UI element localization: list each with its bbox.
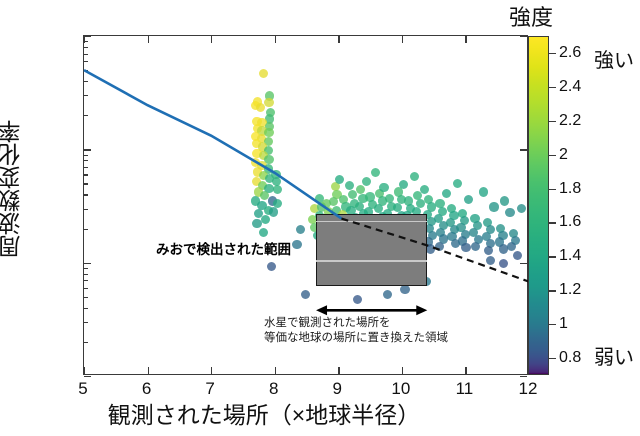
colorbar-high-label: 強い: [594, 44, 634, 73]
colorbar-tick-label: 1.6: [559, 213, 581, 231]
chart-figure: 56789101112 10−210−1100101 観測された場所（×地球半径…: [0, 0, 640, 436]
colorbar: [528, 36, 549, 375]
detection-band-label: みおで検出された範囲: [156, 238, 291, 258]
arrow-head-right: [416, 305, 427, 315]
y-tick: [84, 376, 91, 377]
colorbar-tick-label: 2: [559, 146, 568, 164]
y-tick: [520, 376, 527, 377]
colorbar-tick: [549, 155, 556, 156]
colorbar-title: 強度: [509, 0, 553, 32]
colorbar-tick: [549, 324, 556, 325]
colorbar-tick-label: 2.4: [559, 78, 581, 96]
colorbar-low-label: 弱い: [594, 341, 634, 370]
colorbar-tick-label: 2.2: [559, 112, 581, 130]
y-axis-title: 周波数変化率: [0, 120, 28, 258]
colorbar-tick-label: 1.4: [559, 247, 581, 265]
colorbar-tick-label: 2.6: [559, 44, 581, 62]
colorbar-tick: [549, 358, 556, 359]
colorbar-tick-label: 0.8: [559, 349, 581, 367]
colorbar-tick: [549, 87, 556, 88]
colorbar-tick-label: 1.8: [559, 180, 581, 198]
colorbar-tick-label: 1.2: [559, 281, 581, 299]
colorbar-tick: [549, 222, 556, 223]
range-note-line-1: 水星で観測された場所を: [264, 316, 391, 331]
colorbar-tick: [549, 256, 556, 257]
colorbar-tick: [549, 53, 556, 54]
colorbar-tick: [549, 290, 556, 291]
colorbar-tick-label: 1: [559, 315, 568, 333]
colorbar-tick: [549, 189, 556, 190]
x-axis-title: 観測された場所（×地球半径）: [0, 396, 528, 430]
range-note-line-2: 等価な地球の場所に置き換えた領域: [264, 331, 448, 346]
arrow-head-left: [316, 305, 327, 315]
colorbar-tick: [549, 121, 556, 122]
